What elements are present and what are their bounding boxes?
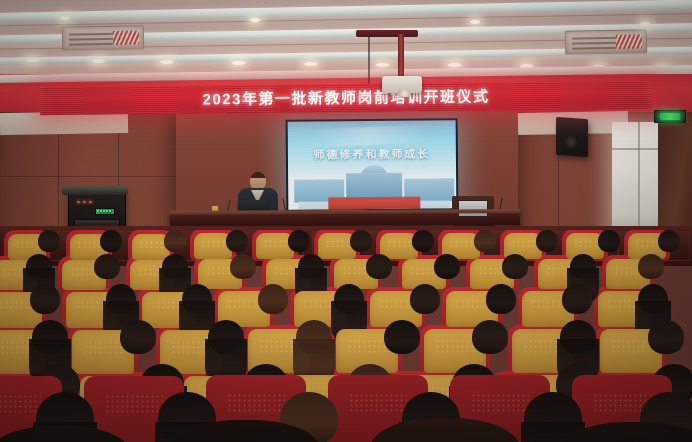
rack-status-display bbox=[95, 208, 115, 215]
audience-member bbox=[258, 284, 288, 314]
rack-led-icon bbox=[83, 201, 86, 203]
audience-member bbox=[648, 320, 684, 354]
slide-title: 师德修养和教师成长 bbox=[288, 145, 456, 162]
audience-member bbox=[560, 320, 596, 354]
audience-member bbox=[26, 254, 52, 279]
audience-member bbox=[226, 230, 248, 252]
audience-member bbox=[486, 284, 516, 314]
audience-member bbox=[100, 230, 122, 252]
audience-member bbox=[334, 284, 364, 314]
projection-screen: 师德修养和教师成长 bbox=[286, 118, 459, 211]
ceiling-downlight bbox=[470, 20, 480, 24]
audience-member bbox=[164, 230, 186, 252]
audience-member bbox=[638, 284, 668, 314]
ceiling-ac-vent-right bbox=[565, 29, 647, 54]
audience-member bbox=[32, 320, 68, 354]
projector-lens-icon bbox=[398, 90, 411, 97]
slide-plaza bbox=[328, 197, 420, 210]
audience-member bbox=[638, 254, 664, 279]
ceiling-downlight bbox=[160, 60, 173, 64]
audience-member bbox=[298, 254, 324, 279]
ceiling-downlight bbox=[250, 18, 260, 22]
rack-led-icon bbox=[89, 201, 92, 203]
ceiling-downlight bbox=[640, 22, 650, 26]
projector-pole-mount bbox=[356, 30, 418, 37]
audience-member bbox=[412, 230, 434, 252]
ceiling-downlight bbox=[304, 62, 317, 66]
screen-glare bbox=[307, 124, 428, 147]
audience-member bbox=[384, 320, 420, 354]
audience-member bbox=[208, 320, 244, 354]
audience-member bbox=[106, 284, 136, 314]
ceiling-downlight bbox=[232, 61, 245, 65]
audience-member bbox=[296, 320, 332, 354]
audience-member bbox=[350, 230, 372, 252]
audience-member bbox=[230, 254, 256, 279]
audience-member bbox=[30, 284, 60, 314]
ceiling-ac-vent-left bbox=[62, 25, 144, 50]
exit-sign-glow-icon bbox=[660, 113, 680, 120]
audience-member bbox=[472, 320, 508, 354]
audience-member bbox=[598, 230, 620, 252]
audience-member bbox=[38, 230, 60, 252]
audience-member bbox=[366, 254, 392, 279]
audience-member bbox=[410, 284, 440, 314]
emergency-exit-sign bbox=[654, 110, 686, 123]
ceiling-downlight bbox=[376, 63, 389, 67]
ceiling-downlight bbox=[26, 58, 39, 62]
audio-mixer[interactable] bbox=[62, 186, 128, 195]
audience-member bbox=[162, 254, 188, 279]
projector-pole-mount bbox=[398, 34, 404, 80]
rack-led-icon bbox=[77, 201, 80, 203]
audience-member bbox=[94, 254, 120, 279]
ceiling-downlight bbox=[60, 16, 70, 20]
projected-slide: 师德修养和教师成长 bbox=[288, 120, 457, 209]
audience-member bbox=[570, 254, 596, 279]
audience-member bbox=[502, 254, 528, 279]
auditorium-photo: 2023年第一批新教师岗前培训开班仪式 师德修养和教师成长 bbox=[0, 0, 692, 442]
audience-member bbox=[562, 284, 592, 314]
audience-member bbox=[288, 230, 310, 252]
audience-seating bbox=[0, 230, 692, 442]
ceiling-downlight bbox=[92, 59, 105, 63]
audience-member bbox=[434, 254, 460, 279]
audience-member bbox=[474, 230, 496, 252]
vent-fin bbox=[616, 34, 642, 48]
wooden-door[interactable] bbox=[658, 122, 692, 242]
audience-member bbox=[536, 230, 558, 252]
vent-fin bbox=[113, 30, 139, 44]
audience-member bbox=[120, 320, 156, 354]
audience-member bbox=[182, 284, 212, 314]
ceiling-downlight bbox=[448, 63, 461, 67]
wall-mounted-loudspeaker bbox=[556, 117, 588, 157]
speaker-cone-icon bbox=[565, 136, 577, 149]
audience-member bbox=[658, 230, 680, 252]
led-banner-text: 2023年第一批新教师岗前培训开班仪式 bbox=[40, 84, 652, 111]
